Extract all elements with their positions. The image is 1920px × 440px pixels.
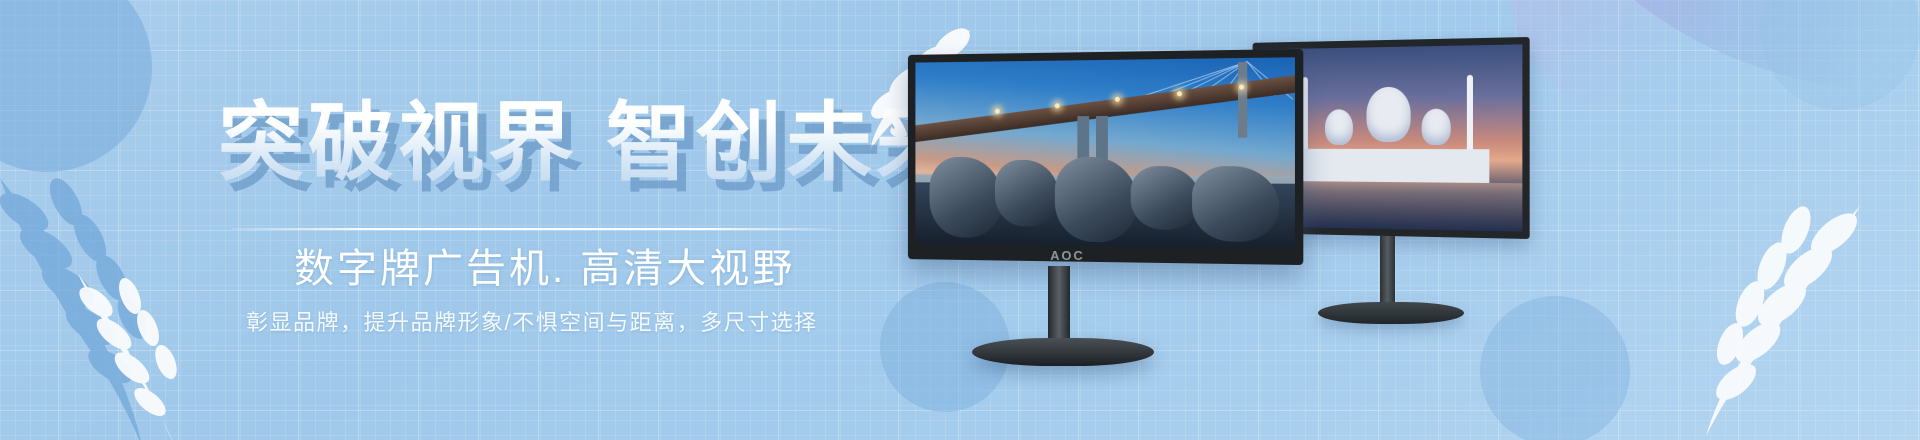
rock xyxy=(995,160,1058,227)
bridge-lamp xyxy=(1177,91,1182,96)
mosque-dome-right xyxy=(1421,108,1451,145)
front-monitor-stand-neck xyxy=(1048,266,1070,344)
subheadline: 数字牌广告机. 高清大视野 xyxy=(294,236,795,294)
mosque-dome-main xyxy=(1366,87,1411,142)
front-monitor-screen xyxy=(908,49,1303,265)
rear-monitor-stand-neck xyxy=(1380,236,1395,308)
front-monitor-stand-base xyxy=(972,338,1154,366)
bridge-pylon xyxy=(1238,62,1247,138)
bridge-lamp xyxy=(1055,103,1060,108)
rock xyxy=(1130,166,1200,230)
copy-block: 突破视界 智创未来 数字牌广告机. 高清大视野 彰显品牌，提升品牌形象/不惧空间… xyxy=(0,0,900,440)
rear-monitor-stand-base xyxy=(1318,302,1464,324)
front-monitor: AOC xyxy=(900,52,1320,352)
mosque-minaret-right xyxy=(1467,75,1473,157)
headline: 突破视界 智创未来 xyxy=(218,72,966,197)
divider xyxy=(232,228,832,230)
front-monitor-brand-logo: AOC xyxy=(1050,248,1084,263)
leaf-right-lower-icon xyxy=(1620,200,1880,440)
mosque-dome-left xyxy=(1325,109,1353,145)
tagline: 彰显品牌，提升品牌形象/不惧空间与距离，多尺寸选择 xyxy=(246,305,818,337)
promo-banner: 突破视界 智创未来 数字牌广告机. 高清大视野 彰显品牌，提升品牌形象/不惧空间… xyxy=(0,0,1920,440)
rock xyxy=(1192,166,1279,242)
